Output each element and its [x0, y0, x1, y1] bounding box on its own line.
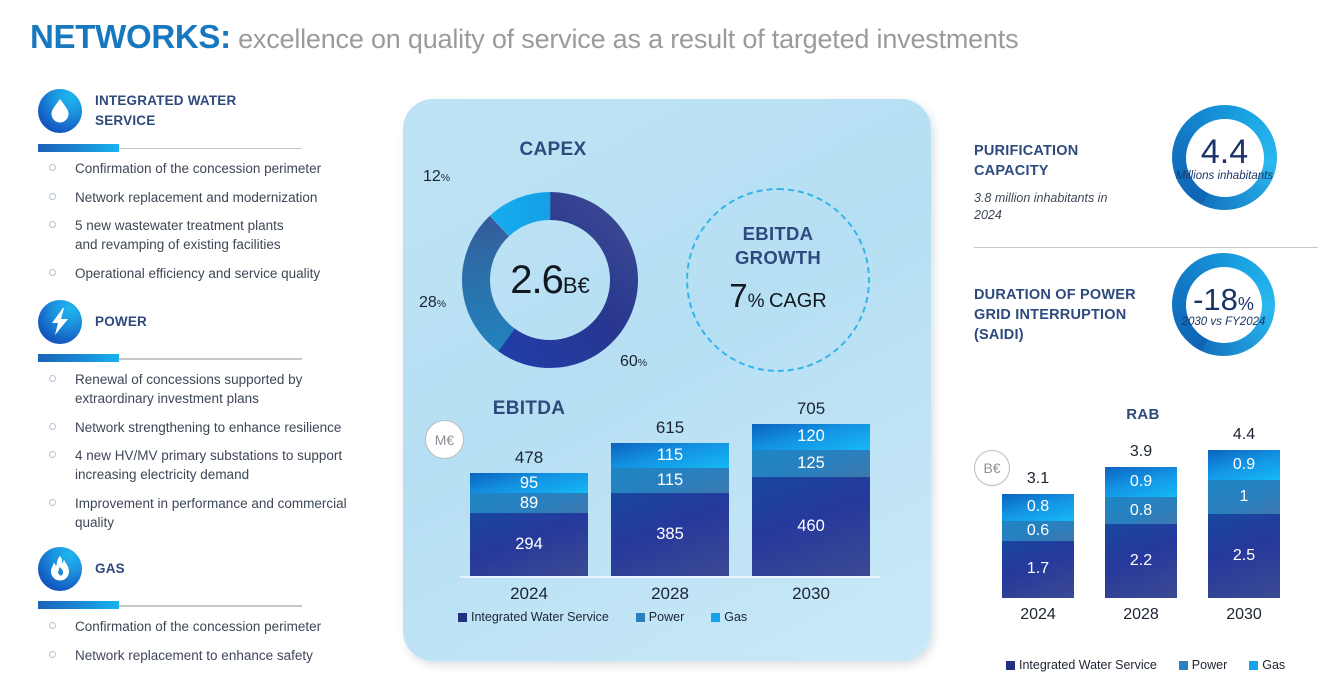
list-item-label: Network strengthening to enhance resilie…	[75, 420, 341, 435]
section-header-1: POWER	[38, 299, 388, 345]
bullet-circle-icon	[49, 164, 56, 171]
legend-swatch	[1249, 661, 1258, 670]
bullet-circle-icon	[49, 622, 56, 629]
bar-segment-value: 460	[797, 517, 825, 536]
bar-total-2024: 478	[470, 448, 588, 468]
ebitda-growth-percent: %	[748, 291, 765, 312]
bullet-circle-icon	[49, 375, 56, 382]
list-item: Network strengthening to enhance resilie…	[38, 418, 388, 437]
section-title-1: POWER	[95, 312, 147, 332]
bar-segment-water-2028: 385	[611, 493, 729, 576]
bullet-circle-icon	[49, 423, 56, 430]
lightning-bolt-icon	[38, 300, 82, 344]
legend-label: Gas	[724, 610, 747, 624]
bar-segment-value: 0.8	[1130, 502, 1152, 520]
bar-segment-gas-2028: 115	[611, 443, 729, 468]
legend-label: Integrated Water Service	[471, 610, 609, 624]
bar-segment-value: 2.2	[1130, 552, 1152, 570]
bar-total-2030: 705	[752, 399, 870, 419]
bar-total-2028: 3.9	[1105, 443, 1177, 461]
bullet-circle-icon	[49, 651, 56, 658]
bar-total-2028: 615	[611, 418, 729, 438]
donut-label-gas: 12%	[423, 168, 450, 186]
kpi-ring-inner-1: -18%2030 vs FY2024	[1186, 267, 1262, 343]
page-title-rest: excellence on quality of service as a re…	[231, 24, 1019, 54]
bar-total-2024: 3.1	[1002, 470, 1074, 488]
legend-item-1: Power	[636, 610, 684, 624]
list-item: Confirmation of the concession perimeter	[38, 159, 388, 178]
bullet-circle-icon	[49, 221, 56, 228]
bar-group-2024: 9589294	[470, 473, 588, 576]
bar-segment-gas-2030: 0.9	[1208, 450, 1280, 480]
list-item-label: 4 new HV/MV primary substations to suppo…	[75, 448, 342, 482]
bar-segment-value: 1	[1240, 488, 1249, 506]
ebitda-growth-value-row: 7% CAGR	[690, 277, 866, 315]
kpi-text-block-1: DURATION OF POWERGRID INTERRUPTION(SAIDI…	[974, 285, 1174, 345]
section-bullet-list-2: Confirmation of the concession perimeter…	[38, 617, 388, 665]
capex-total-value: 2.6B€	[478, 258, 622, 303]
kpi-subtext-0: 3.8 million inhabitants in2024	[974, 190, 1174, 224]
kpi-ring-inner-0: 4.4Millions inhabitants	[1186, 119, 1264, 197]
flame-icon	[38, 547, 82, 591]
kpi-ring-caption-1: 2030 vs FY2024	[1182, 316, 1266, 328]
legend-swatch	[711, 613, 720, 622]
bar-segment-value: 1.7	[1027, 560, 1049, 578]
list-item: Renewal of concessions supported byextra…	[38, 370, 388, 408]
kpi-name-0: PURIFICATIONCAPACITY	[974, 141, 1174, 181]
section-accent-divider-1	[38, 354, 302, 364]
bar-segment-water-2024: 1.7	[1002, 541, 1074, 598]
legend-swatch	[458, 613, 467, 622]
legend-item-2: Gas	[1249, 658, 1285, 672]
bullet-circle-icon	[49, 269, 56, 276]
section-bullet-list-0: Confirmation of the concession perimeter…	[38, 159, 388, 283]
kpi-text-block-0: PURIFICATIONCAPACITY3.8 million inhabita…	[974, 141, 1174, 224]
bar-group-2024: 0.80.61.7	[1002, 494, 1074, 598]
list-item: Operational efficiency and service quali…	[38, 264, 388, 283]
list-item-label: Confirmation of the concession perimeter	[75, 619, 321, 634]
bullet-circle-icon	[49, 451, 56, 458]
bar-segment-power-2028: 0.8	[1105, 497, 1177, 524]
chart-baseline	[460, 576, 880, 578]
section-header-2: GAS	[38, 546, 388, 592]
list-item-label: Renewal of concessions supported byextra…	[75, 372, 302, 406]
legend-item-2: Gas	[711, 610, 747, 624]
ebitda-growth-label: EBITDAGROWTH	[690, 222, 866, 271]
kpi-ring-caption-0: Millions inhabitants	[1176, 170, 1273, 182]
bar-segment-water-2028: 2.2	[1105, 524, 1177, 598]
legend-label: Power	[649, 610, 684, 624]
bar-segment-water-2024: 294	[470, 513, 588, 576]
bar-segment-value: 2.5	[1233, 547, 1255, 565]
kpi-ring-0: 4.4Millions inhabitants	[1172, 105, 1277, 210]
bar-xlabel-2030: 2030	[752, 584, 870, 604]
capex-chart-title: CAPEX	[498, 139, 608, 161]
bar-segment-value: 0.9	[1130, 473, 1152, 491]
list-item: 5 new wastewater treatment plantsand rev…	[38, 216, 388, 254]
list-item-label: Operational efficiency and service quali…	[75, 266, 320, 281]
legend-item-1: Power	[1179, 658, 1227, 672]
kpi-row-1: DURATION OF POWERGRID INTERRUPTION(SAIDI…	[960, 245, 1331, 405]
bar-segment-value: 120	[797, 427, 825, 446]
page-title: NETWORKS: excellence on quality of servi…	[30, 18, 1310, 56]
list-item-label: 5 new wastewater treatment plantsand rev…	[75, 218, 284, 252]
bar-segment-power-2030: 1	[1208, 480, 1280, 514]
bar-segment-power-2024: 0.6	[1002, 521, 1074, 541]
legend-swatch	[1179, 661, 1188, 670]
bullet-circle-icon	[49, 499, 56, 506]
bar-segment-gas-2024: 95	[470, 473, 588, 493]
capex-total-number: 2.6	[510, 258, 563, 302]
list-item-label: Confirmation of the concession perimeter	[75, 161, 321, 176]
bar-segment-water-2030: 2.5	[1208, 514, 1280, 598]
section-title-2: GAS	[95, 559, 125, 579]
bar-group-2030: 120125460	[752, 424, 870, 576]
bar-group-2028: 0.90.82.2	[1105, 467, 1177, 598]
bar-segment-power-2028: 115	[611, 468, 729, 493]
list-item-label: Network replacement and modernization	[75, 190, 317, 205]
legend-label: Power	[1192, 658, 1227, 672]
legend-label: Gas	[1262, 658, 1285, 672]
bar-segment-value: 115	[657, 471, 683, 490]
kpi-ring-value-suffix-1: %	[1238, 294, 1254, 314]
bar-segment-gas-2028: 0.9	[1105, 467, 1177, 497]
capex-total-unit: B€	[563, 273, 590, 298]
bar-segment-water-2030: 460	[752, 477, 870, 576]
donut-label-water: 60%	[620, 353, 647, 371]
section-accent-divider-0	[38, 143, 302, 153]
bar-xlabel-2024: 2024	[470, 584, 588, 604]
bar-segment-power-2030: 125	[752, 450, 870, 477]
bar-group-2030: 0.912.5	[1208, 450, 1280, 598]
section-accent-divider-2	[38, 601, 302, 611]
bar-xlabel-2028: 2028	[1105, 606, 1177, 624]
chart-legend: Integrated Water ServicePowerGas	[1006, 658, 1285, 672]
bar-segment-value: 125	[797, 454, 825, 473]
bar-segment-power-2024: 89	[470, 493, 588, 512]
bar-segment-value: 385	[656, 525, 684, 544]
ebitda-growth-suffix: CAGR	[769, 290, 827, 312]
bullet-circle-icon	[49, 193, 56, 200]
chart-baseline	[989, 598, 1309, 600]
list-item: Improvement in performance and commercia…	[38, 494, 388, 532]
water-drop-icon	[38, 89, 82, 133]
section-bullet-list-1: Renewal of concessions supported byextra…	[38, 370, 388, 533]
bar-group-2028: 115115385	[611, 443, 729, 576]
bar-segment-value: 95	[520, 474, 538, 493]
legend-swatch	[1006, 661, 1015, 670]
list-item: Confirmation of the concession perimeter	[38, 617, 388, 636]
bar-xlabel-2024: 2024	[1002, 606, 1074, 624]
legend-label: Integrated Water Service	[1019, 658, 1157, 672]
section-header-0: INTEGRATED WATERSERVICE	[38, 88, 388, 134]
kpi-ring-value-1: -18%	[1193, 282, 1254, 318]
legend-item-0: Integrated Water Service	[458, 610, 609, 624]
ebitda-unit-badge: M€	[425, 420, 464, 459]
donut-label-power: 28%	[419, 294, 446, 312]
section-title-0: INTEGRATED WATERSERVICE	[95, 91, 236, 130]
bar-xlabel-2028: 2028	[611, 584, 729, 604]
kpi-name-1: DURATION OF POWERGRID INTERRUPTION(SAIDI…	[974, 285, 1174, 345]
left-sections-column: INTEGRATED WATERSERVICEConfirmation of t…	[38, 88, 388, 674]
bar-total-2030: 4.4	[1208, 426, 1280, 444]
ebitda-growth-block: EBITDAGROWTH 7% CAGR	[690, 222, 866, 315]
list-item-label: Network replacement to enhance safety	[75, 648, 313, 663]
kpi-row-0: PURIFICATIONCAPACITY3.8 million inhabita…	[960, 95, 1331, 245]
rab-stacked-bar-chart: 0.80.61.73.120240.90.82.23.920280.912.54…	[980, 420, 1325, 685]
bar-segment-value: 115	[657, 446, 683, 465]
bar-segment-value: 0.9	[1233, 456, 1255, 474]
ebitda-growth-number: 7	[729, 277, 747, 314]
page-title-strong: NETWORKS:	[30, 18, 231, 55]
list-item: Network replacement to enhance safety	[38, 646, 388, 665]
chart-legend: Integrated Water ServicePowerGas	[458, 610, 747, 624]
bar-segment-value: 294	[515, 535, 543, 554]
list-item: Network replacement and modernization	[38, 188, 388, 207]
kpi-ring-value-0: 4.4	[1201, 133, 1248, 172]
bar-segment-value: 0.6	[1027, 522, 1049, 540]
bar-segment-gas-2024: 0.8	[1002, 494, 1074, 521]
kpi-ring-1: -18%2030 vs FY2024	[1172, 253, 1275, 356]
bar-xlabel-2030: 2030	[1208, 606, 1280, 624]
legend-item-0: Integrated Water Service	[1006, 658, 1157, 672]
right-kpi-column: PURIFICATIONCAPACITY3.8 million inhabita…	[960, 95, 1331, 405]
bar-segment-value: 0.8	[1027, 498, 1049, 516]
list-item-label: Improvement in performance and commercia…	[75, 496, 347, 530]
bar-segment-value: 89	[520, 494, 538, 513]
list-item: 4 new HV/MV primary substations to suppo…	[38, 446, 388, 484]
bar-segment-gas-2030: 120	[752, 424, 870, 450]
legend-swatch	[636, 613, 645, 622]
ebitda-stacked-bar-chart: 9589294478202411511538561520281201254607…	[460, 388, 880, 618]
